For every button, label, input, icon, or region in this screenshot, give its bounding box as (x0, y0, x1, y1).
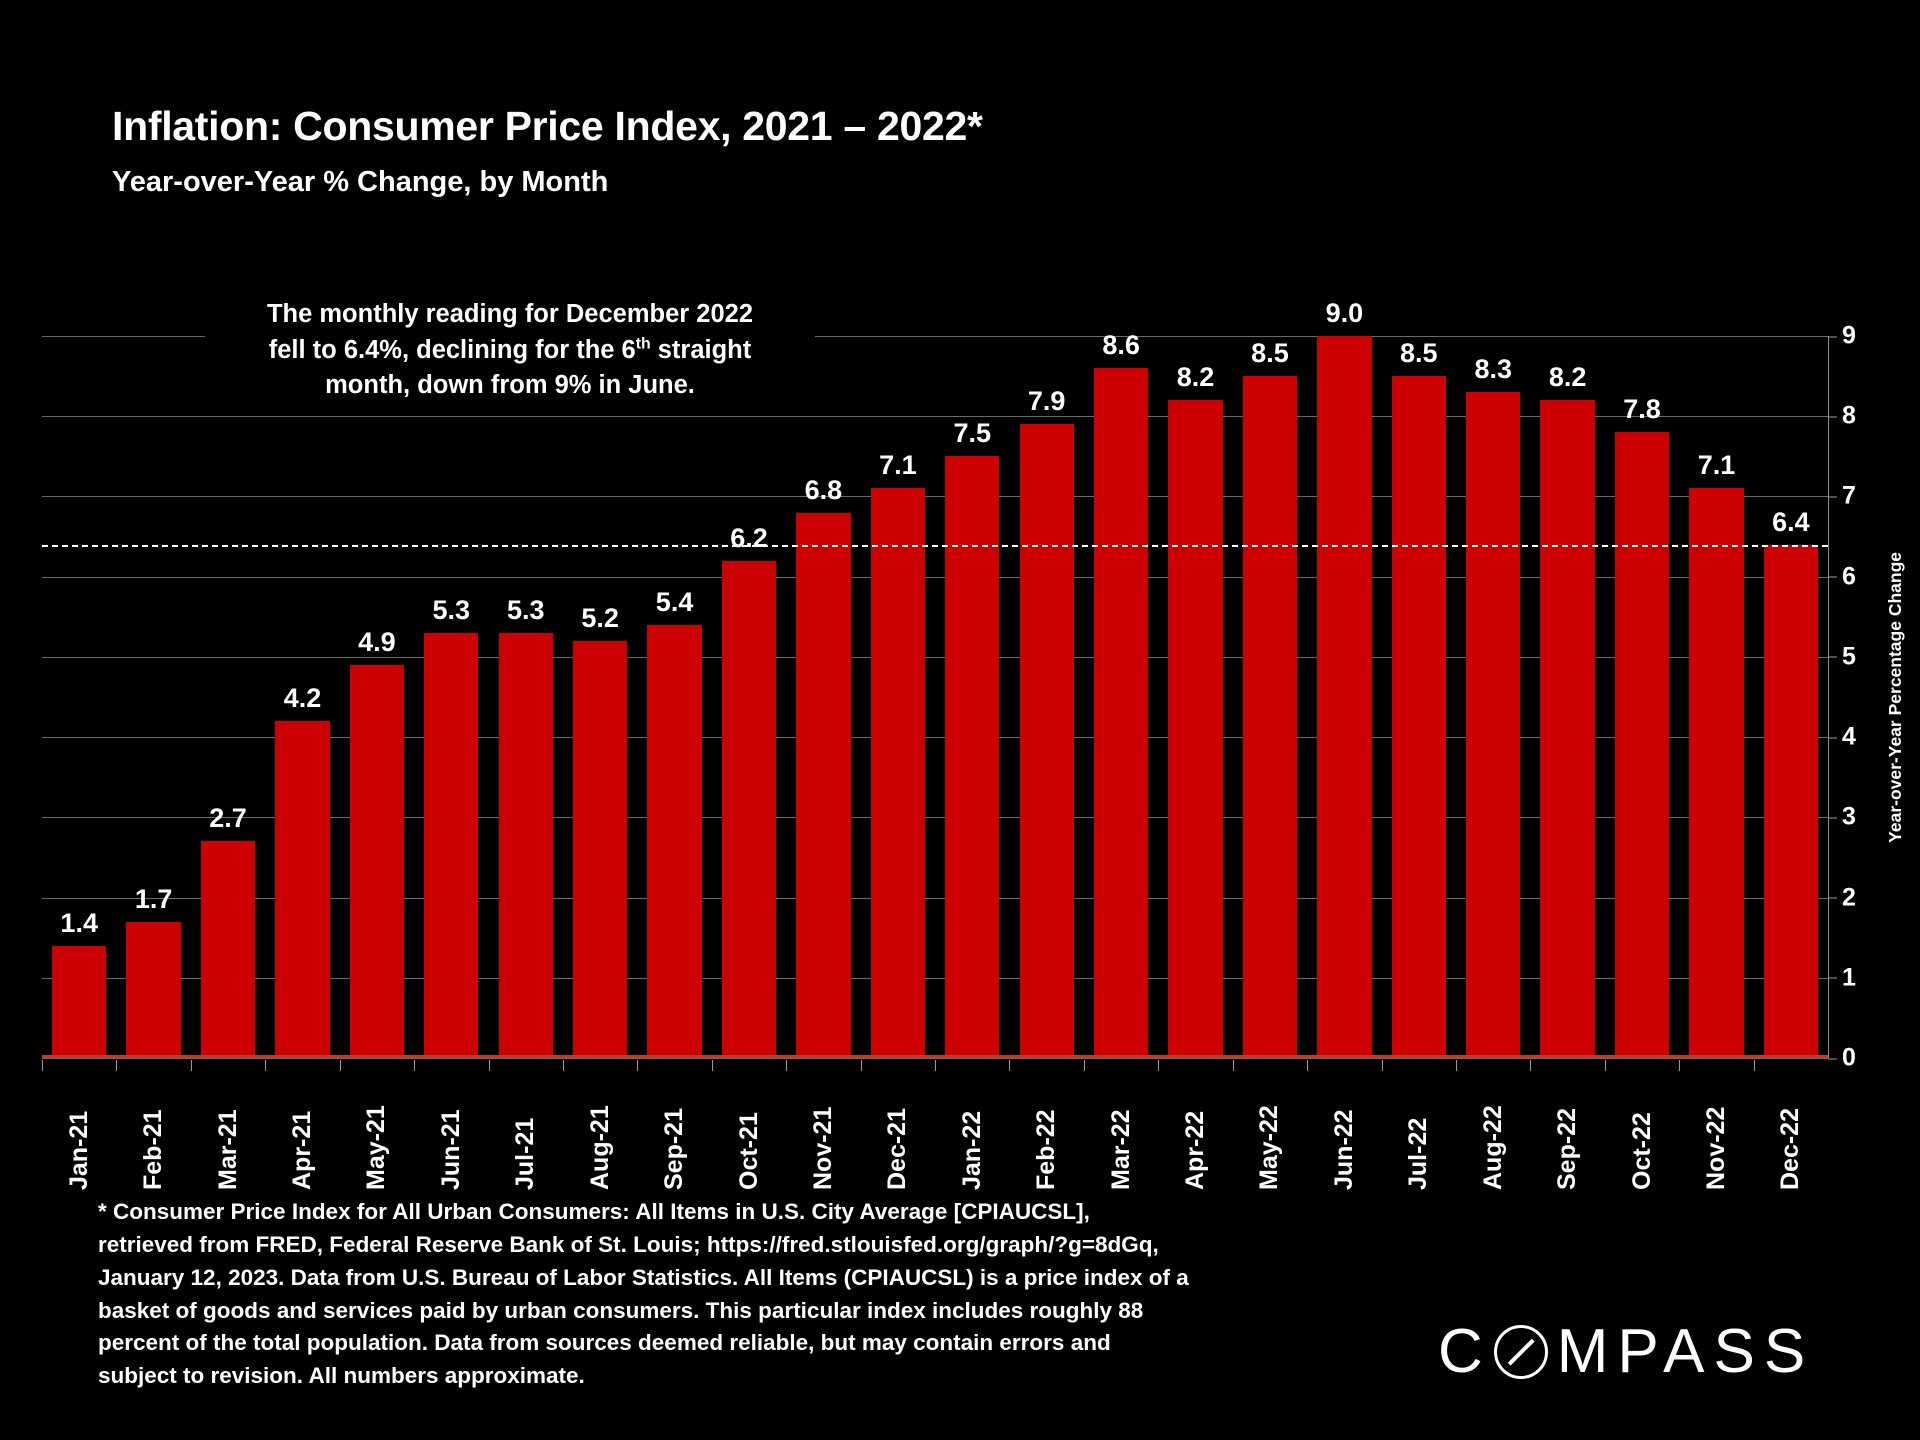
x-axis-tick (42, 1060, 43, 1071)
x-axis-tick (1009, 1060, 1010, 1071)
bar-slot: 9.0 (1307, 336, 1381, 1058)
bar-slot: 8.5 (1233, 336, 1307, 1058)
x-axis-slot: May-22 (1233, 1060, 1307, 1190)
y-axis-tick-label: 5 (1828, 642, 1874, 671)
annotation-line-2-b: straight (651, 336, 752, 364)
x-axis-tick-label: Dec-21 (883, 1074, 912, 1190)
x-axis-tick-label: Jul-21 (511, 1074, 540, 1190)
bar-slot: 5.3 (414, 336, 488, 1058)
annotation-callout: The monthly reading for December 2022 fe… (205, 295, 815, 406)
y-axis-title-text: Year-over-Year Percentage Change (1885, 552, 1906, 843)
gridline (42, 1058, 1828, 1059)
bar[interactable]: 7.1 (871, 488, 925, 1058)
x-axis-tick-label: May-21 (362, 1074, 391, 1190)
bar-value-label: 5.3 (507, 595, 545, 626)
y-axis-tick-label: 4 (1828, 723, 1874, 752)
x-axis-tick (861, 1060, 862, 1071)
page-title: Inflation: Consumer Price Index, 2021 – … (112, 104, 983, 149)
bar[interactable]: 6.8 (796, 513, 850, 1059)
y-axis-tick-label: 3 (1828, 803, 1874, 832)
x-axis-tick-label: Oct-21 (735, 1074, 764, 1190)
x-axis-tick (414, 1060, 415, 1071)
bar-slot: 4.2 (265, 336, 339, 1058)
bar-slot: 1.4 (42, 336, 116, 1058)
bar[interactable]: 7.8 (1615, 432, 1669, 1058)
x-axis-tick-label: Nov-22 (1702, 1074, 1731, 1190)
bar-value-label: 5.3 (433, 595, 471, 626)
x-axis-tick-label: Apr-22 (1181, 1074, 1210, 1190)
x-axis-slot: Aug-21 (563, 1060, 637, 1190)
bar-slot: 6.8 (786, 336, 860, 1058)
bar-slot: 7.1 (861, 336, 935, 1058)
footnote-line-3: January 12, 2023. Data from U.S. Bureau … (98, 1262, 1383, 1295)
bar[interactable]: 4.9 (350, 665, 404, 1058)
bar-slot: 8.3 (1456, 336, 1530, 1058)
bar-value-label: 8.2 (1177, 362, 1215, 393)
x-axis-slot: Sep-22 (1530, 1060, 1604, 1190)
y-axis-title: Year-over-Year Percentage Change (1878, 336, 1912, 1058)
bar-slot: 2.7 (191, 336, 265, 1058)
annotation-line-1: The monthly reading for December 2022 (209, 297, 811, 333)
x-axis-slot: Dec-21 (861, 1060, 935, 1190)
bar[interactable]: 5.3 (499, 633, 553, 1058)
bar-slot: 7.1 (1679, 336, 1753, 1058)
x-axis-baseline (42, 1055, 1828, 1058)
bar[interactable]: 8.5 (1392, 376, 1446, 1058)
x-axis-tick-label: Oct-22 (1628, 1074, 1657, 1190)
y-axis-tick-label: 8 (1828, 402, 1874, 431)
bar[interactable]: 8.3 (1466, 392, 1520, 1058)
x-axis-slot: Jul-22 (1382, 1060, 1456, 1190)
x-axis-slot: Dec-22 (1754, 1060, 1828, 1190)
compass-logo-rest: MPASS (1557, 1316, 1814, 1387)
bar-slot: 6.4 (1754, 336, 1828, 1058)
bar[interactable]: 5.3 (424, 633, 478, 1058)
x-axis-tick-label: Sep-21 (660, 1074, 689, 1190)
bar-value-label: 8.3 (1474, 354, 1512, 385)
x-axis-slot: Apr-21 (265, 1060, 339, 1190)
bar-value-label: 8.5 (1400, 338, 1438, 369)
bar-slot: 5.3 (489, 336, 563, 1058)
bar-slot: 8.2 (1158, 336, 1232, 1058)
bar[interactable]: 5.2 (573, 641, 627, 1058)
bar-value-label: 6.4 (1772, 507, 1810, 538)
x-axis-tick (1233, 1060, 1234, 1071)
x-axis-slot: May-21 (340, 1060, 414, 1190)
x-axis-tick-label: Dec-22 (1776, 1074, 1805, 1190)
x-axis-tick-label: Nov-21 (809, 1074, 838, 1190)
x-axis-tick-label: Jan-21 (65, 1074, 94, 1190)
bar[interactable]: 2.7 (201, 841, 255, 1058)
x-axis-slot: Jan-21 (42, 1060, 116, 1190)
x-axis-slot: Jun-21 (414, 1060, 488, 1190)
x-axis-tick-label: Sep-22 (1553, 1074, 1582, 1190)
bar[interactable]: 5.4 (647, 625, 701, 1058)
x-axis-tick-label: May-22 (1255, 1074, 1284, 1190)
y-axis-tick-label: 2 (1828, 883, 1874, 912)
bar[interactable]: 6.2 (722, 561, 776, 1058)
bar-slot: 7.5 (935, 336, 1009, 1058)
bar-value-label: 4.9 (358, 627, 396, 658)
x-axis-tick (712, 1060, 713, 1071)
y-axis-tick-label: 6 (1828, 562, 1874, 591)
x-axis-tick-label: Jan-22 (958, 1074, 987, 1190)
x-axis-tick (1530, 1060, 1531, 1071)
bar-value-label: 7.9 (1028, 386, 1066, 417)
bar-value-label: 7.1 (1698, 450, 1736, 481)
annotation-line-2: fell to 6.4%, declining for the 6th stra… (209, 333, 811, 369)
x-axis-slot: Jul-21 (489, 1060, 563, 1190)
bar-value-label: 1.4 (60, 908, 98, 939)
x-axis-tick-label: Jul-22 (1404, 1074, 1433, 1190)
bar-value-label: 8.5 (1251, 338, 1289, 369)
bar-value-label: 5.2 (581, 603, 619, 634)
bar-value-label: 4.2 (284, 683, 322, 714)
x-axis-slot: Nov-22 (1679, 1060, 1753, 1190)
bar-value-label: 6.2 (730, 523, 768, 554)
title-block: Inflation: Consumer Price Index, 2021 – … (112, 104, 983, 199)
footnote-line-5: percent of the total population. Data fr… (98, 1327, 1383, 1360)
footnote-line-1: * Consumer Price Index for All Urban Con… (98, 1196, 1383, 1229)
x-axis-tick-label: Aug-22 (1479, 1074, 1508, 1190)
bar-slot: 8.6 (1084, 336, 1158, 1058)
x-axis-tick-label: Aug-21 (586, 1074, 615, 1190)
bar-value-label: 9.0 (1326, 298, 1364, 329)
x-axis-slot: Sep-21 (637, 1060, 711, 1190)
x-axis-slot: Jan-22 (935, 1060, 1009, 1190)
bar-slot: 5.4 (637, 336, 711, 1058)
x-axis-tick-label: Jun-22 (1330, 1074, 1359, 1190)
footnote-block: * Consumer Price Index for All Urban Con… (98, 1196, 1383, 1393)
x-axis-tick (1158, 1060, 1159, 1071)
annotation-line-3: month, down from 9% in June. (209, 368, 811, 404)
bar[interactable]: 8.2 (1168, 400, 1222, 1058)
bar[interactable]: 1.7 (126, 922, 180, 1058)
x-axis-slot: Nov-21 (786, 1060, 860, 1190)
x-axis-slot: Apr-22 (1158, 1060, 1232, 1190)
y-axis-tick-label: 9 (1828, 322, 1874, 351)
bar[interactable]: 8.5 (1243, 376, 1297, 1058)
reference-line (42, 545, 1828, 547)
x-axis-slot: Mar-22 (1084, 1060, 1158, 1190)
bar-slot: 8.2 (1530, 336, 1604, 1058)
annotation-line-2-a: fell to 6.4%, declining for the 6 (269, 336, 636, 364)
page-subtitle: Year-over-Year % Change, by Month (112, 166, 983, 199)
x-axis-slot: Mar-21 (191, 1060, 265, 1190)
x-axis-tick (1605, 1060, 1606, 1071)
bar-slot: 8.5 (1382, 336, 1456, 1058)
x-axis-tick-label: Mar-21 (214, 1074, 243, 1190)
x-axis-tick-label: Apr-21 (288, 1074, 317, 1190)
compass-logo-c: C (1438, 1316, 1492, 1387)
x-axis-tick (563, 1060, 564, 1071)
x-axis-tick-label: Jun-21 (437, 1074, 466, 1190)
x-axis-slot: Jun-22 (1307, 1060, 1381, 1190)
y-axis-tick-label: 0 (1828, 1044, 1874, 1073)
bar-value-label: 6.8 (805, 475, 843, 506)
x-axis-slot: Oct-21 (712, 1060, 786, 1190)
x-axis-labels: Jan-21Feb-21Mar-21Apr-21May-21Jun-21Jul-… (42, 1060, 1828, 1190)
x-axis-tick-label: Mar-22 (1107, 1074, 1136, 1190)
x-axis-tick (489, 1060, 490, 1071)
x-axis-tick (191, 1060, 192, 1071)
x-axis-slot: Oct-22 (1605, 1060, 1679, 1190)
x-axis-slot: Aug-22 (1456, 1060, 1530, 1190)
bar[interactable]: 8.6 (1094, 368, 1148, 1058)
x-axis-slot: Feb-21 (116, 1060, 190, 1190)
bar-value-label: 8.6 (1102, 330, 1140, 361)
bar-series: 1.41.72.74.24.95.35.35.25.46.26.87.17.57… (42, 336, 1828, 1058)
x-axis-tick (1307, 1060, 1308, 1071)
y-axis-tick-label: 1 (1828, 963, 1874, 992)
bar-value-label: 2.7 (209, 803, 247, 834)
plot-area: 1.41.72.74.24.95.35.35.25.46.26.87.17.57… (42, 336, 1828, 1058)
x-axis-tick (340, 1060, 341, 1071)
x-axis-tick (1679, 1060, 1680, 1071)
x-axis-tick (786, 1060, 787, 1071)
footnote-line-2: retrieved from FRED, Federal Reserve Ban… (98, 1229, 1383, 1262)
compass-logo: C MPASS (1438, 1316, 1814, 1387)
bar-slot: 1.7 (116, 336, 190, 1058)
x-axis-tick (1382, 1060, 1383, 1071)
bar[interactable]: 4.2 (275, 721, 329, 1058)
x-axis-tick (116, 1060, 117, 1071)
bar-value-label: 5.4 (656, 587, 694, 618)
bar-slot: 7.8 (1605, 336, 1679, 1058)
x-axis-tick (1754, 1060, 1755, 1071)
x-axis-tick (1456, 1060, 1457, 1071)
bar-value-label: 7.8 (1623, 394, 1661, 425)
footnote-line-6: subject to revision. All numbers approxi… (98, 1360, 1383, 1393)
bar[interactable]: 6.4 (1764, 545, 1818, 1058)
footnote-line-4: basket of goods and services paid by urb… (98, 1295, 1383, 1328)
bar-slot: 4.9 (340, 336, 414, 1058)
y-axis-tick-label: 7 (1828, 482, 1874, 511)
compass-needle-icon (1494, 1325, 1548, 1379)
bar[interactable]: 1.4 (52, 946, 106, 1058)
bar-value-label: 7.1 (879, 450, 917, 481)
bar-value-label: 1.7 (135, 884, 173, 915)
compass-logo-text: C MPASS (1438, 1316, 1814, 1387)
bar[interactable]: 7.9 (1020, 424, 1074, 1058)
bar-slot: 6.2 (712, 336, 786, 1058)
x-axis-slot: Feb-22 (1009, 1060, 1083, 1190)
bar[interactable]: 7.1 (1689, 488, 1743, 1058)
annotation-ordinal-suffix: th (636, 335, 651, 352)
y-axis-ticks: 9876543210 (1828, 336, 1874, 1058)
x-axis-tick-label: Feb-21 (139, 1074, 168, 1190)
bar-value-label: 7.5 (953, 418, 991, 449)
x-axis-tick (637, 1060, 638, 1071)
x-axis-tick (265, 1060, 266, 1071)
bar[interactable]: 7.5 (945, 456, 999, 1058)
x-axis-tick-label: Feb-22 (1032, 1074, 1061, 1190)
x-axis-tick (1084, 1060, 1085, 1071)
bar-value-label: 8.2 (1549, 362, 1587, 393)
bar[interactable]: 9.0 (1317, 336, 1371, 1058)
bar-slot: 5.2 (563, 336, 637, 1058)
bar-slot: 7.9 (1009, 336, 1083, 1058)
x-axis-tick (935, 1060, 936, 1071)
bar[interactable]: 8.2 (1540, 400, 1594, 1058)
